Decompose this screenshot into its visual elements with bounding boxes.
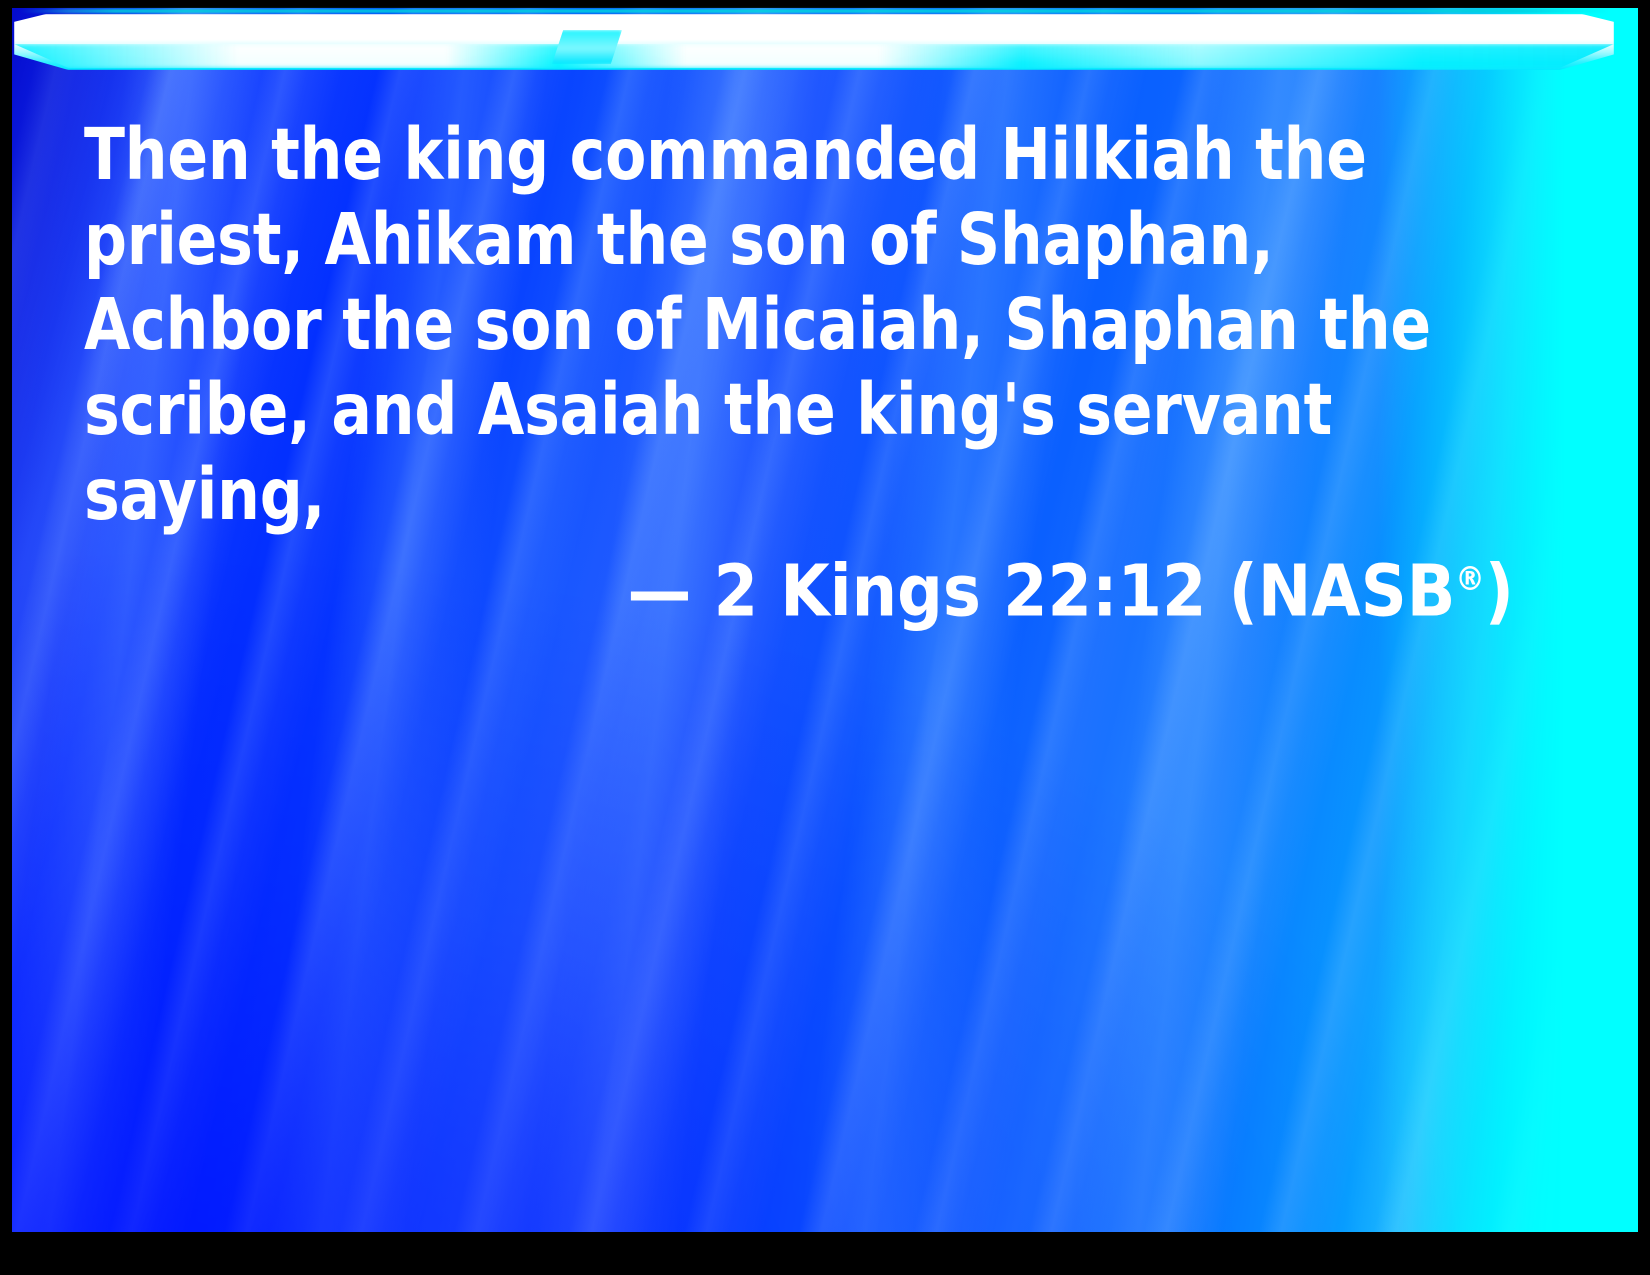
verse-line: Achbor the son of Micaiah, Shaphan the bbox=[84, 282, 1438, 367]
verse-text-block: Then the king commanded Hilkiah the prie… bbox=[84, 112, 1524, 537]
attribution-reference: — 2 Kings 22:12 (NASB bbox=[627, 549, 1455, 632]
top-band-hairline bbox=[20, 9, 1610, 13]
attribution-closing-paren: ) bbox=[1485, 549, 1514, 632]
registered-trademark-icon: ® bbox=[1455, 560, 1484, 598]
verse-attribution: — 2 Kings 22:12 (NASB®) bbox=[84, 537, 1514, 633]
top-band-notch bbox=[552, 30, 622, 64]
verse-line: Then the king commanded Hilkiah the bbox=[84, 112, 1438, 197]
top-band-underglow bbox=[14, 44, 1614, 68]
verse-line: priest, Ahikam the son of Shaphan, bbox=[84, 197, 1438, 282]
verse-slide: Then the king commanded Hilkiah the prie… bbox=[0, 0, 1650, 1275]
verse-line: saying, bbox=[84, 452, 1438, 537]
verse-line: scribe, and Asaiah the king's servant bbox=[84, 367, 1438, 452]
